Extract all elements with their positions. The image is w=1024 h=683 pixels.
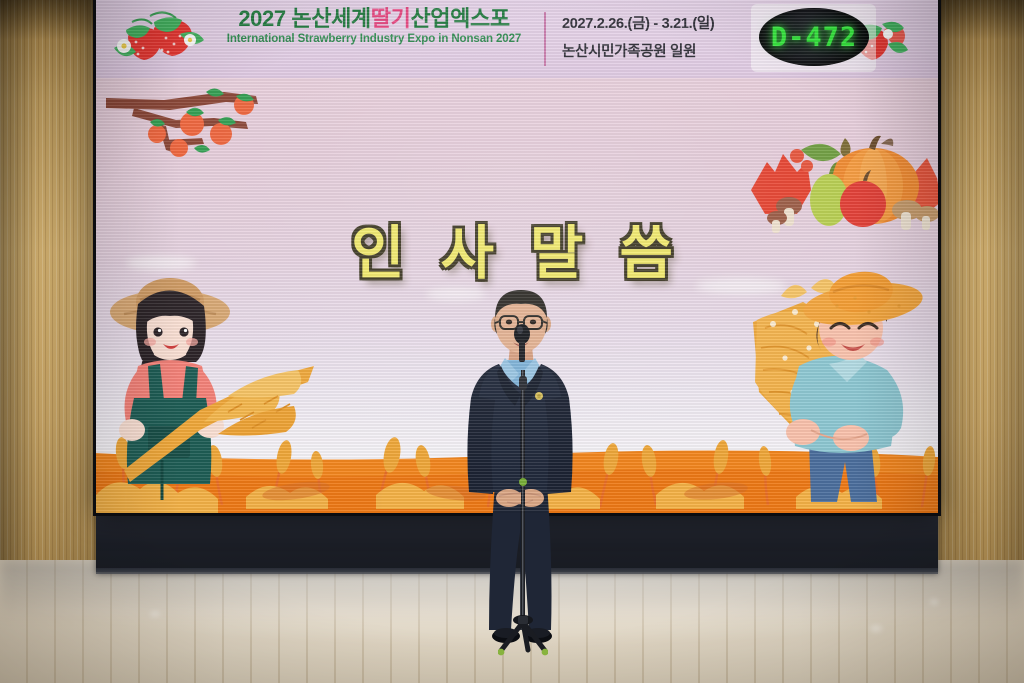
expo-title-block: 2027 논산세계딸기산업엑스포 International Strawberr…: [214, 6, 534, 45]
expo-title-ko-accent: 딸기: [371, 6, 411, 31]
boy-farmer-illustration: [751, 262, 938, 502]
wooden-wall-left: [0, 0, 96, 560]
expo-date: 2027.2.26.(금) - 3.21.(일): [562, 12, 752, 33]
autumn-harvest-icon: [741, 128, 938, 233]
expo-place: 논산시민가족공원 일원: [562, 40, 752, 61]
floor-highlight: [870, 626, 882, 631]
floor-highlight: [150, 612, 160, 616]
microphone-stand: [498, 330, 548, 660]
expo-title-korean: 2027 논산세계딸기산업엑스포: [214, 6, 534, 31]
expo-title-english: International Strawberry Industry Expo i…: [214, 33, 534, 45]
floor-highlight: [930, 600, 938, 604]
microphone-head: [508, 322, 536, 362]
dday-counter: D-472: [771, 22, 857, 53]
header-divider: [544, 12, 546, 66]
girl-farmer-illustration: [108, 270, 318, 500]
expo-title-ko-p3: 산업엑스포: [410, 6, 509, 31]
expo-info-block: 2027.2.26.(금) - 3.21.(일) 논산시민가족공원 일원: [562, 12, 752, 61]
persimmon-branch-icon: [106, 82, 296, 164]
expo-title-ko-p1: 2027: [238, 6, 291, 31]
wooden-wall-right: [938, 0, 1024, 560]
countdown-panel: D-472: [751, 4, 876, 72]
countdown-display: D-472: [759, 8, 869, 66]
expo-header-banner: 2027 논산세계딸기산업엑스포 International Strawberr…: [96, 0, 938, 78]
page-title: 인 사 말 씀: [96, 225, 938, 283]
expo-title-ko-p2: 논산세계: [291, 6, 370, 31]
stage-photo-scene: 인 사 말 씀: [0, 0, 1024, 683]
strawberry-cluster-icon: [110, 10, 208, 68]
